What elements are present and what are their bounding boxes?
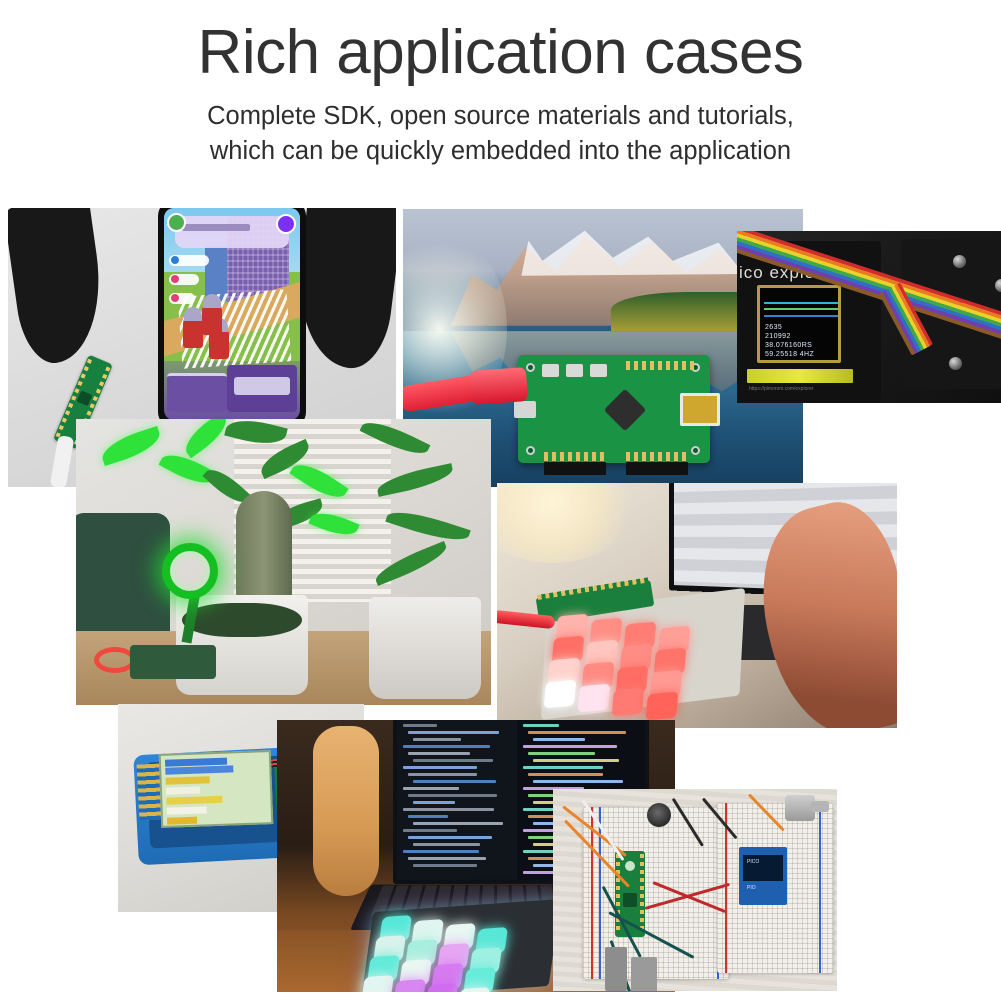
- wooden-lamp: [313, 726, 379, 896]
- code-line: [408, 857, 486, 860]
- screw-icon: [949, 357, 962, 370]
- smartphone: [158, 208, 306, 428]
- lcd-menu-row: [166, 776, 210, 785]
- micro-usb-port: [514, 401, 536, 418]
- pin-header-row: [544, 452, 606, 461]
- board-footer-glow: [747, 369, 853, 383]
- pcb-button: [542, 364, 559, 377]
- oled-text: PICO: [747, 859, 759, 865]
- lcd-screen: [159, 750, 274, 828]
- keypad-key[interactable]: [646, 692, 679, 721]
- plant-trunk: [236, 491, 292, 611]
- game-hud-pill: [169, 293, 195, 304]
- game-hud-pill: [169, 255, 209, 266]
- code-line: [523, 766, 603, 769]
- code-line: [413, 738, 461, 741]
- code-line: [403, 745, 490, 748]
- code-line: [403, 850, 479, 853]
- pico-chip: [77, 390, 93, 406]
- mounting-hole: [691, 446, 700, 455]
- keypad-key[interactable]: [578, 684, 611, 713]
- lcd-reading: 38.076160RS: [765, 342, 812, 349]
- black-header: [544, 462, 606, 475]
- code-line: [413, 822, 503, 825]
- second-pot: [369, 597, 481, 699]
- lcd-trace-line: [764, 302, 840, 304]
- green-device-box: [130, 645, 216, 679]
- code-line: [403, 787, 459, 790]
- code-line: [528, 752, 595, 755]
- lcd-trace-line: [764, 315, 840, 317]
- power-rail-positive: [591, 807, 593, 979]
- photo-breadboard-project: PICO PIO: [553, 789, 837, 991]
- black-header: [626, 462, 688, 475]
- code-line: [528, 731, 626, 734]
- code-line: [408, 815, 448, 818]
- red-usb-plug: [470, 367, 528, 405]
- game-train: [167, 373, 227, 411]
- code-line: [413, 843, 480, 846]
- code-line: [533, 780, 623, 783]
- code-line: [533, 759, 619, 762]
- lcd-screen: 2635 210992 38.076160RS 59.25518 4HZ: [757, 285, 841, 363]
- keypad-key[interactable]: [361, 975, 394, 992]
- raspberry-logo-icon: [625, 861, 635, 871]
- mounting-hole: [526, 446, 535, 455]
- game-top-bar: [175, 216, 289, 248]
- code-line: [408, 836, 492, 839]
- potentiometer: [785, 795, 815, 821]
- lcd-menu-row: [167, 817, 197, 825]
- photo-rgb-keypad-red: [497, 483, 897, 728]
- game-hud-pill: [169, 274, 199, 285]
- game-avatar-icon: [167, 213, 186, 232]
- pin-header-row: [626, 361, 694, 370]
- oled-display-module: PICO PIO: [739, 847, 787, 905]
- code-line: [408, 731, 499, 734]
- pcb-chip: [604, 389, 646, 431]
- mounting-hole: [526, 363, 535, 372]
- code-line: [403, 766, 477, 769]
- lcd-menu-row: [167, 806, 207, 814]
- board-url-text: https://pimoroni.com/explorer: [749, 386, 813, 392]
- game-silo: [202, 301, 222, 335]
- power-rail-negative: [819, 803, 821, 973]
- lcd-reading: 59.25518 4HZ: [765, 351, 814, 358]
- code-line: [403, 724, 437, 727]
- metal-bracket: [605, 947, 627, 991]
- lcd-menu-row: [166, 796, 222, 805]
- pcb-button: [566, 364, 583, 377]
- photo-pico-explorer: ico explorer 2635 210992 38.076160RS 59.…: [737, 231, 1001, 403]
- lcd-menu-row: [166, 787, 200, 795]
- application-cases-banner: Rich application cases Complete SDK, ope…: [0, 0, 1001, 1001]
- code-line: [413, 780, 496, 783]
- editor-sidebar: [397, 720, 519, 880]
- screw-icon: [953, 255, 966, 268]
- oled-text: PIO: [747, 885, 756, 891]
- code-line: [408, 773, 477, 776]
- phone-screen: [164, 208, 300, 420]
- code-line: [523, 724, 559, 727]
- code-line: [528, 773, 603, 776]
- pot-soil: [182, 603, 302, 637]
- keypad-key[interactable]: [544, 680, 577, 709]
- code-line: [403, 808, 494, 811]
- led-ring: [162, 543, 218, 599]
- pcb-button: [590, 364, 607, 377]
- code-line: [413, 801, 455, 804]
- hdmi-port: [680, 393, 720, 426]
- code-line: [413, 759, 493, 762]
- game-cassette: [227, 365, 298, 412]
- pico-chip: [623, 893, 637, 907]
- code-line: [403, 829, 457, 832]
- lcd-menu-row: [165, 765, 233, 774]
- photo-collage: ico explorer 2635 210992 38.076160RS 59.…: [0, 0, 1001, 1001]
- lcd-reading: 2635: [765, 324, 782, 331]
- code-line: [408, 752, 470, 755]
- metal-bracket: [631, 957, 657, 991]
- photo-plant-led-ring: [76, 419, 491, 705]
- piezo-buzzer: [647, 803, 671, 827]
- screw-icon: [995, 279, 1001, 292]
- green-pcb: [518, 355, 710, 463]
- keypad-key[interactable]: [612, 688, 645, 717]
- code-line: [533, 738, 585, 741]
- code-line: [413, 864, 477, 867]
- pin-header-row: [626, 452, 688, 461]
- lcd-trace-line: [764, 308, 840, 310]
- code-line: [523, 745, 617, 748]
- lcd-reading: 210992: [765, 333, 791, 340]
- game-silo: [183, 314, 203, 348]
- code-line: [408, 794, 497, 797]
